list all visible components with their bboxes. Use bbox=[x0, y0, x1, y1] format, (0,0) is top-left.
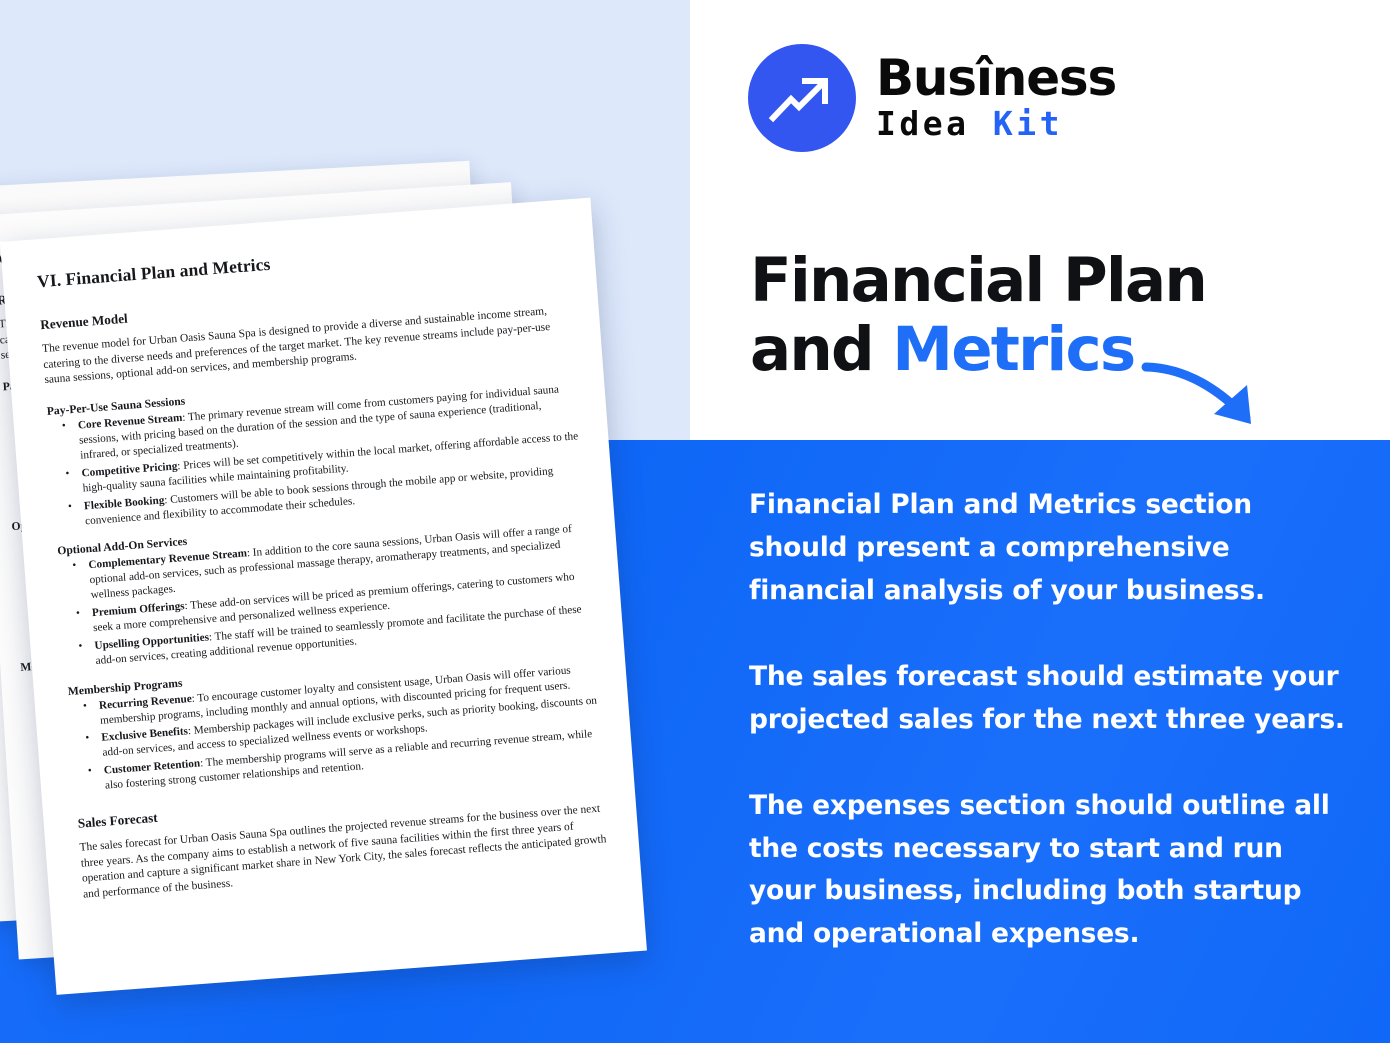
brand-logo: Busîness Idea Kit bbox=[748, 44, 1116, 152]
body-paragraph-2: The sales forecast should estimate your … bbox=[749, 656, 1349, 742]
brand-name-kit: Kit bbox=[993, 104, 1063, 143]
brand-name-line1: Busîness bbox=[876, 53, 1116, 104]
sales-forecast-block: Sales Forecast The sales forecast for Ur… bbox=[77, 776, 610, 903]
body-paragraph-1: Financial Plan and Metrics section shoul… bbox=[749, 484, 1349, 613]
page-title-line1: Financial Plan bbox=[750, 247, 1310, 316]
body-copy: Financial Plan and Metrics section shoul… bbox=[749, 484, 1349, 956]
brand-name-idea: Idea bbox=[876, 104, 969, 143]
body-paragraph-3: The expenses section should outline all … bbox=[749, 785, 1349, 957]
trending-up-chart-icon bbox=[748, 44, 856, 152]
brand-logo-text: Busîness Idea Kit bbox=[876, 53, 1116, 144]
page-title-line2-prefix: and bbox=[750, 314, 892, 385]
slide-canvas: VI. Financial Plan and Metrics Revenue M… bbox=[0, 0, 1390, 1043]
document-stack: VI. Financial Plan and Metrics Revenue M… bbox=[0, 150, 780, 980]
document-page-front-content: VI. Financial Plan and Metrics Revenue M… bbox=[0, 198, 647, 995]
document-page-front: VI. Financial Plan and Metrics Revenue M… bbox=[0, 198, 647, 995]
page-title-accent: Metrics bbox=[892, 314, 1134, 385]
curved-arrow-down-right-icon bbox=[1138, 352, 1298, 447]
brand-name-line2: Idea Kit bbox=[876, 107, 1116, 140]
